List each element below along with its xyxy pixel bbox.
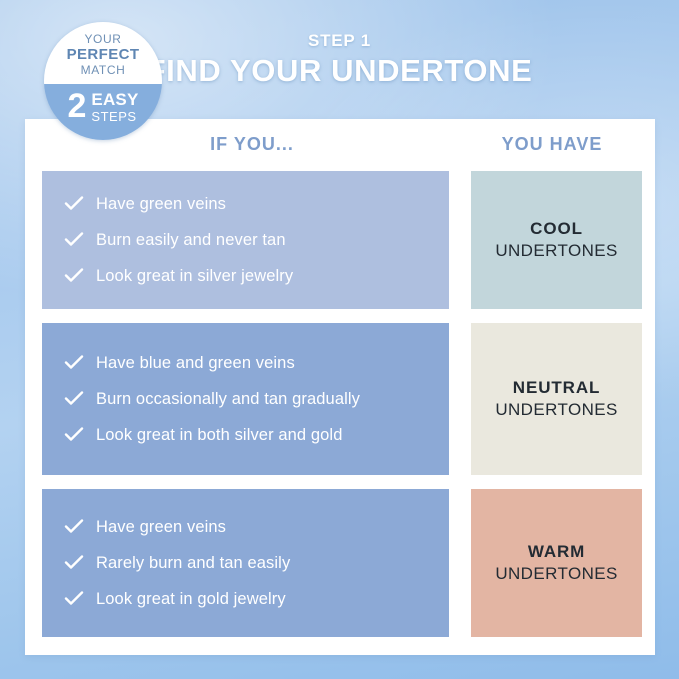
list-item: Rarely burn and tan easily <box>64 552 431 574</box>
result-word: UNDERTONES <box>495 240 617 262</box>
perfect-match-badge: YOUR PERFECT MATCH 2 EASY STEPS <box>44 22 162 140</box>
criteria-text: Burn occasionally and tan gradually <box>96 388 360 410</box>
check-icon <box>64 591 84 606</box>
badge-bottom-half: 2 EASY STEPS <box>44 84 162 140</box>
badge-steps-text: EASY STEPS <box>91 88 138 124</box>
table-row: Have green veins Burn easily and never t… <box>42 171 642 309</box>
check-icon <box>64 196 84 211</box>
criteria-cell-neutral: Have blue and green veins Burn occasiona… <box>42 323 449 475</box>
check-icon <box>64 391 84 406</box>
criteria-text: Look great in silver jewelry <box>96 265 293 287</box>
badge-line-easy: EASY <box>91 91 138 109</box>
criteria-text: Have green veins <box>96 516 226 538</box>
result-card-warm: WARM UNDERTONES <box>471 489 642 637</box>
result-name: COOL <box>530 218 583 240</box>
list-item: Burn occasionally and tan gradually <box>64 388 431 410</box>
list-item: Have green veins <box>64 516 431 538</box>
badge-line-your: YOUR <box>84 32 121 46</box>
criteria-cell-warm: Have green veins Rarely burn and tan eas… <box>42 489 449 637</box>
check-icon <box>64 427 84 442</box>
list-item: Look great in both silver and gold <box>64 424 431 446</box>
result-card-cool: COOL UNDERTONES <box>471 171 642 309</box>
badge-step-count: 2 <box>67 88 86 124</box>
list-item: Have green veins <box>64 193 431 215</box>
badge-line-perfect: PERFECT <box>67 46 140 63</box>
table-row: Have blue and green veins Burn occasiona… <box>42 323 642 475</box>
check-icon <box>64 268 84 283</box>
result-word: UNDERTONES <box>495 563 617 585</box>
list-item: Have blue and green veins <box>64 352 431 374</box>
criteria-cell-cool: Have green veins Burn easily and never t… <box>42 171 449 309</box>
list-item: Look great in silver jewelry <box>64 265 431 287</box>
criteria-text: Look great in gold jewelry <box>96 588 286 610</box>
check-icon <box>64 519 84 534</box>
result-name: NEUTRAL <box>513 377 601 399</box>
criteria-text: Burn easily and never tan <box>96 229 286 251</box>
result-word: UNDERTONES <box>495 399 617 421</box>
undertone-rows: Have green veins Burn easily and never t… <box>42 171 642 651</box>
list-item: Look great in gold jewelry <box>64 588 431 610</box>
badge-top-half: YOUR PERFECT MATCH <box>44 22 162 84</box>
list-item: Burn easily and never tan <box>64 229 431 251</box>
undertone-infographic: STEP 1 FIND YOUR UNDERTONE YOUR PERFECT … <box>0 0 679 679</box>
check-icon <box>64 555 84 570</box>
table-row: Have green veins Rarely burn and tan eas… <box>42 489 642 637</box>
result-card-neutral: NEUTRAL UNDERTONES <box>471 323 642 475</box>
column-header-you-have: YOU HAVE <box>462 134 642 155</box>
check-icon <box>64 232 84 247</box>
check-icon <box>64 355 84 370</box>
badge-line-match: MATCH <box>81 63 126 78</box>
criteria-text: Look great in both silver and gold <box>96 424 342 446</box>
criteria-text: Have blue and green veins <box>96 352 295 374</box>
badge-line-steps: STEPS <box>91 109 138 124</box>
criteria-text: Have green veins <box>96 193 226 215</box>
result-name: WARM <box>528 541 585 563</box>
criteria-text: Rarely burn and tan easily <box>96 552 290 574</box>
